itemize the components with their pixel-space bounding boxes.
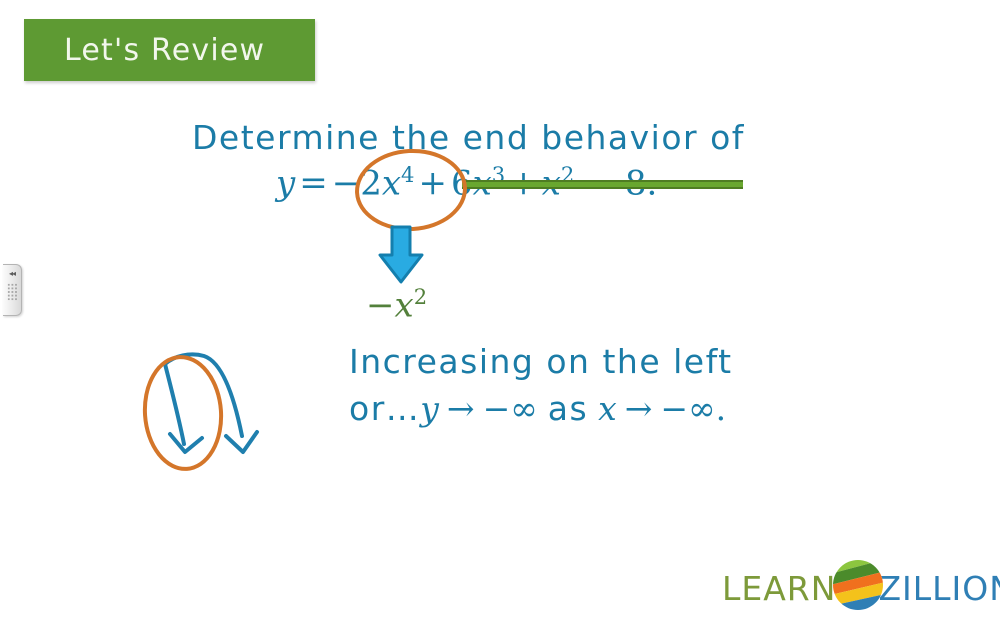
conclusion-limit-x: −∞ [660,389,715,428]
reduced-term: −x2 [366,284,427,325]
conclusion-x-var: x [598,389,617,428]
conclusion-arrow-2: → [617,389,661,428]
chevron-left-double-icon: ◂◂ [9,270,15,278]
equation-lhs: y [276,163,295,203]
slide-canvas: ◂◂ Let's Review Determine the end behavi… [0,0,1000,625]
conclusion-line-1: Increasing on the left [349,342,733,381]
reduced-term-variable: x [395,285,414,325]
banner-label: Let's Review [24,33,265,68]
conclusion-line-2: or…y→−∞asx→−∞. [349,389,726,428]
prompt-text: Determine the end behavior of [192,118,745,157]
conclusion-prefix: or… [349,389,420,428]
end-behavior-sketch [130,340,310,494]
conclusion-arrow-1: → [439,389,483,428]
conclusion-limit-y: −∞ [483,389,538,428]
lets-review-banner: Let's Review [24,19,315,81]
logo-text-learn: LEARN [722,569,836,608]
equation-equals: = [295,163,332,203]
globe-icon [832,559,884,615]
logo-text-zillion: ZILLION [878,569,1000,608]
lower-terms-strikethrough [462,180,743,189]
collapse-panel-handle[interactable]: ◂◂ [3,264,22,316]
leading-term-circle [353,146,469,234]
reduced-term-sign: − [366,285,395,325]
drag-grip-icon [7,283,18,301]
learnzillion-logo: LEARN ZILLION [722,566,1000,610]
down-arrow-icon [378,225,424,289]
reduced-term-exponent: 2 [414,284,427,309]
conclusion-y-var: y [420,389,439,428]
conclusion-as-word: as [538,389,598,428]
conclusion-period: . [716,389,727,428]
